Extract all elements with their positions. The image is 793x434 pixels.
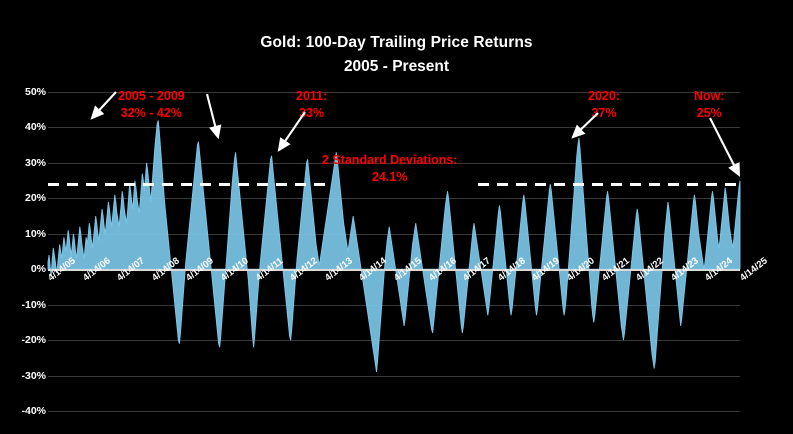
y-tick-label: 20% [0,192,46,204]
annotation-two-standard-deviations: 2 Standard Deviations: 24.1% [322,152,457,186]
annotation-2011-line2: 33% [296,105,327,122]
y-tick-label: 0% [0,263,46,275]
annotation-now: Now: 25% [694,88,725,122]
chart-title: Gold: 100-Day Trailing Price Returns [0,34,793,52]
two-sigma-dashed-line-left [48,183,333,186]
returns-area-series [48,92,740,411]
annotation-2020-line1: 2020: [588,88,620,105]
x-tick-label: 4/14/25 [738,256,770,284]
annotation-2011: 2011: 33% [296,88,327,122]
y-tick-label: -40% [0,405,46,417]
annotation-2005-2009-line2: 32% - 42% [118,105,185,122]
annotation-now-line1: Now: [694,88,725,105]
y-tick-label: 40% [0,121,46,133]
y-tick-label: 50% [0,86,46,98]
chart-root: Gold: 100-Day Trailing Price Returns 200… [0,0,793,434]
y-tick-label: -10% [0,299,46,311]
annotation-2005-2009-line1: 2005 - 2009 [118,88,185,105]
two-sigma-label: 2 Standard Deviations: [322,152,457,169]
annotation-2005-2009: 2005 - 2009 32% - 42% [118,88,185,122]
zero-axis-line [48,269,740,271]
plot-area [48,92,740,411]
y-tick-label: -20% [0,334,46,346]
two-sigma-dashed-line-right [478,183,740,186]
y-tick-label: 10% [0,228,46,240]
annotation-2020: 2020: 37% [588,88,620,122]
annotation-2020-line2: 37% [588,105,620,122]
annotation-2011-line1: 2011: [296,88,327,105]
y-tick-label: -30% [0,370,46,382]
gridline--40% [48,411,740,412]
two-sigma-value: 24.1% [322,169,457,186]
chart-subtitle: 2005 - Present [0,58,793,76]
annotation-now-line2: 25% [694,105,725,122]
y-tick-label: 30% [0,157,46,169]
